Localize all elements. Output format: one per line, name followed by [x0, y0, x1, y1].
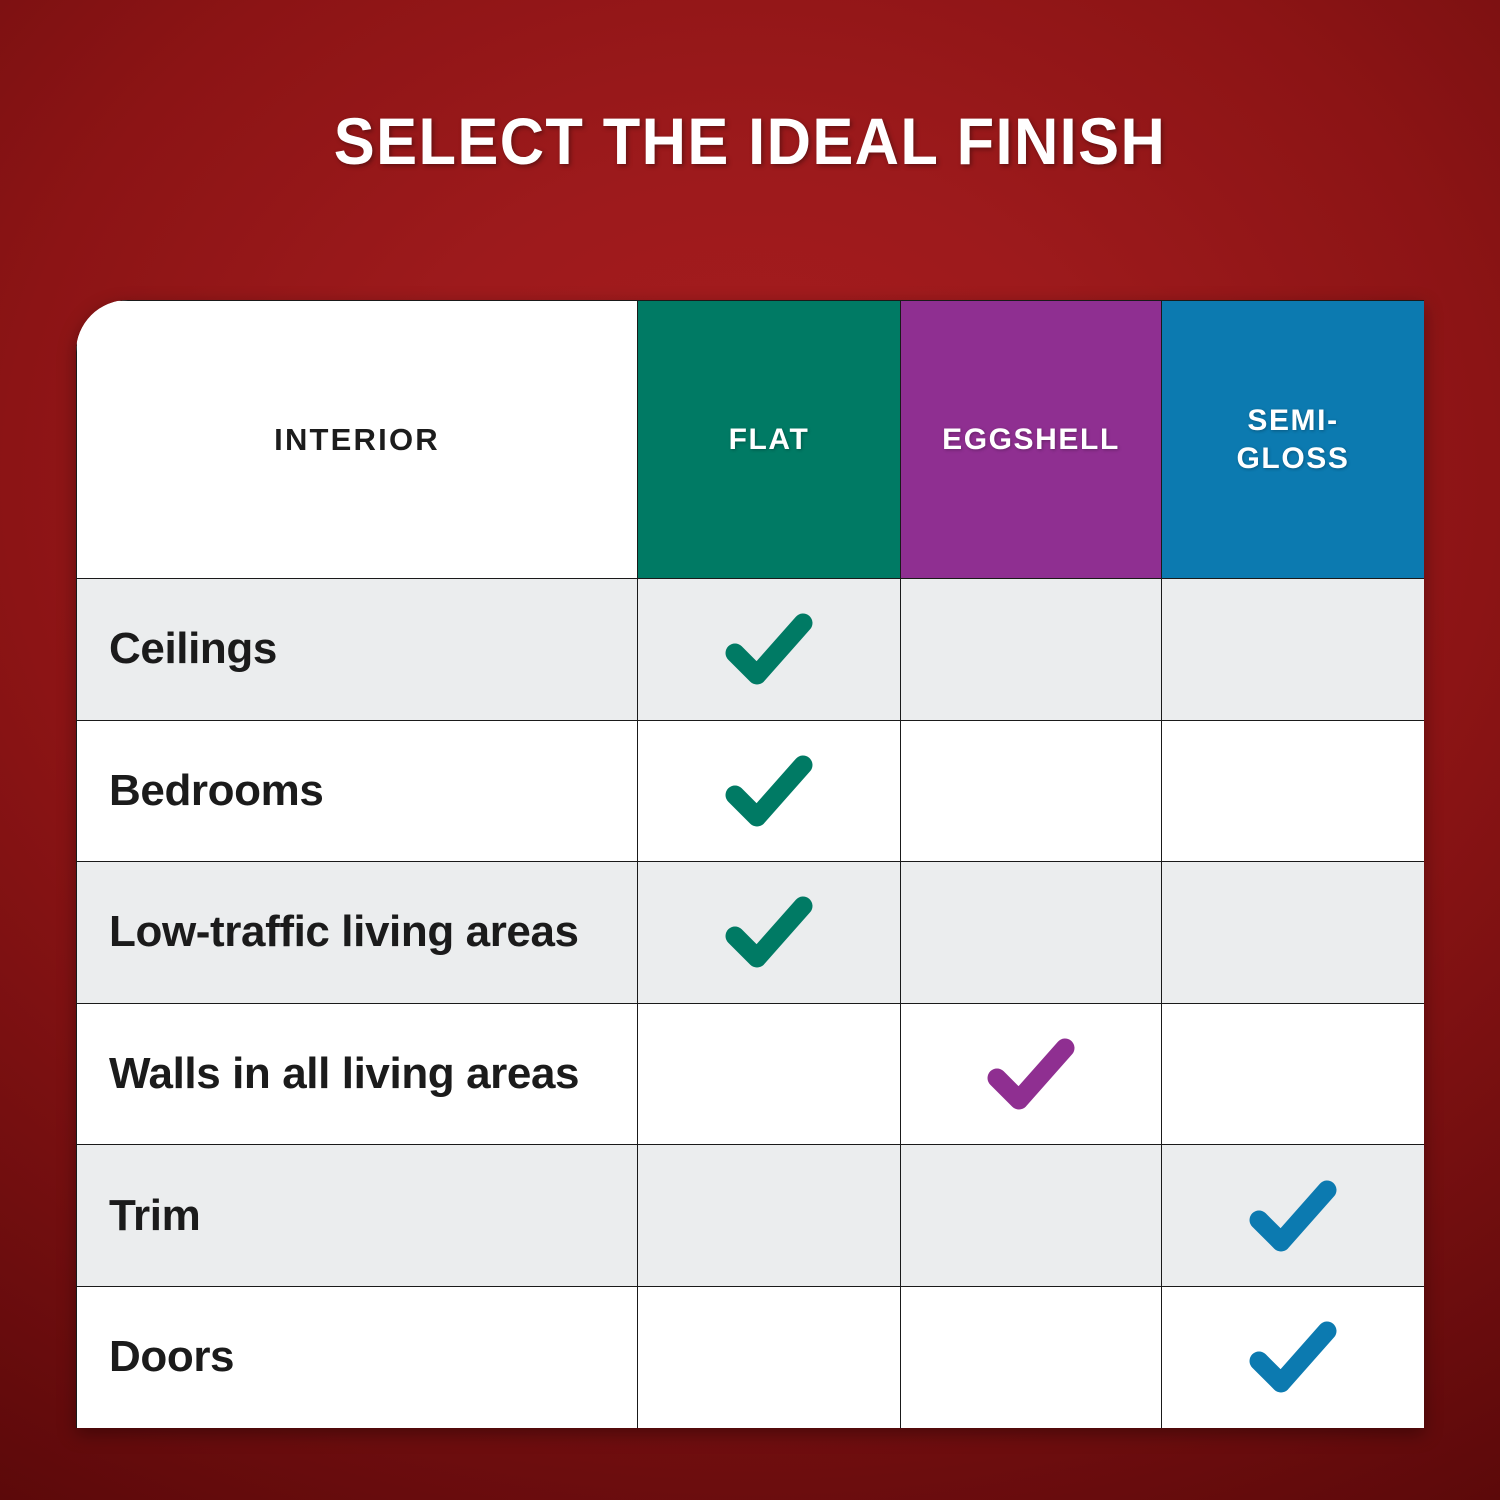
row-label-bedrooms: Bedrooms — [77, 720, 638, 862]
column-header-eggshell: EGGSHELL — [901, 301, 1162, 579]
row-label-ceilings: Ceilings — [77, 579, 638, 721]
cell-walls-flat[interactable] — [638, 1003, 901, 1145]
cell-low-traffic-flat[interactable] — [638, 862, 901, 1004]
checkmark-icon — [721, 751, 817, 831]
checkmark-icon — [721, 892, 817, 972]
cell-ceilings-semigloss[interactable] — [1162, 579, 1425, 721]
cell-bedrooms-eggshell[interactable] — [901, 720, 1162, 862]
cell-walls-eggshell[interactable] — [901, 1003, 1162, 1145]
column-header-semigloss-line2: GLOSS — [1236, 442, 1349, 475]
table-row: Trim — [77, 1145, 1425, 1287]
poster-canvas: SELECT THE IDEAL FINISH INTERIOR FLAT EG… — [0, 0, 1500, 1500]
column-header-interior: INTERIOR — [77, 301, 638, 579]
cell-trim-flat[interactable] — [638, 1145, 901, 1287]
row-label-walls-in-all-living-areas: Walls in all living areas — [77, 1003, 638, 1145]
table-row: Doors — [77, 1286, 1425, 1428]
column-header-semigloss: SEMI- GLOSS — [1162, 301, 1425, 579]
cell-low-traffic-eggshell[interactable] — [901, 862, 1162, 1004]
table-header-row: INTERIOR FLAT EGGSHELL SEMI- GLOSS — [77, 301, 1425, 579]
cell-doors-semigloss[interactable] — [1162, 1286, 1425, 1428]
table-row: Ceilings — [77, 579, 1425, 721]
checkmark-icon — [1245, 1317, 1341, 1397]
column-header-flat: FLAT — [638, 301, 901, 579]
cell-bedrooms-flat[interactable] — [638, 720, 901, 862]
cell-low-traffic-semigloss[interactable] — [1162, 862, 1425, 1004]
table-body: Ceilings Bedrooms — [77, 579, 1425, 1429]
cell-trim-eggshell[interactable] — [901, 1145, 1162, 1287]
row-label-trim: Trim — [77, 1145, 638, 1287]
cell-trim-semigloss[interactable] — [1162, 1145, 1425, 1287]
column-header-semigloss-line1: SEMI- — [1247, 404, 1338, 437]
row-label-low-traffic-living-areas: Low-traffic living areas — [77, 862, 638, 1004]
cell-walls-semigloss[interactable] — [1162, 1003, 1425, 1145]
page-title: SELECT THE IDEAL FINISH — [53, 105, 1448, 177]
cell-ceilings-flat[interactable] — [638, 579, 901, 721]
checkmark-icon — [1245, 1176, 1341, 1256]
cell-ceilings-eggshell[interactable] — [901, 579, 1162, 721]
table-row: Bedrooms — [77, 720, 1425, 862]
table-row: Low-traffic living areas — [77, 862, 1425, 1004]
cell-bedrooms-semigloss[interactable] — [1162, 720, 1425, 862]
checkmark-icon — [983, 1034, 1079, 1114]
finish-selection-table: INTERIOR FLAT EGGSHELL SEMI- GLOSS Ceili… — [76, 300, 1424, 1428]
table: INTERIOR FLAT EGGSHELL SEMI- GLOSS Ceili… — [76, 300, 1424, 1428]
checkmark-icon — [721, 609, 817, 689]
table-row: Walls in all living areas — [77, 1003, 1425, 1145]
cell-doors-eggshell[interactable] — [901, 1286, 1162, 1428]
cell-doors-flat[interactable] — [638, 1286, 901, 1428]
row-label-doors: Doors — [77, 1286, 638, 1428]
